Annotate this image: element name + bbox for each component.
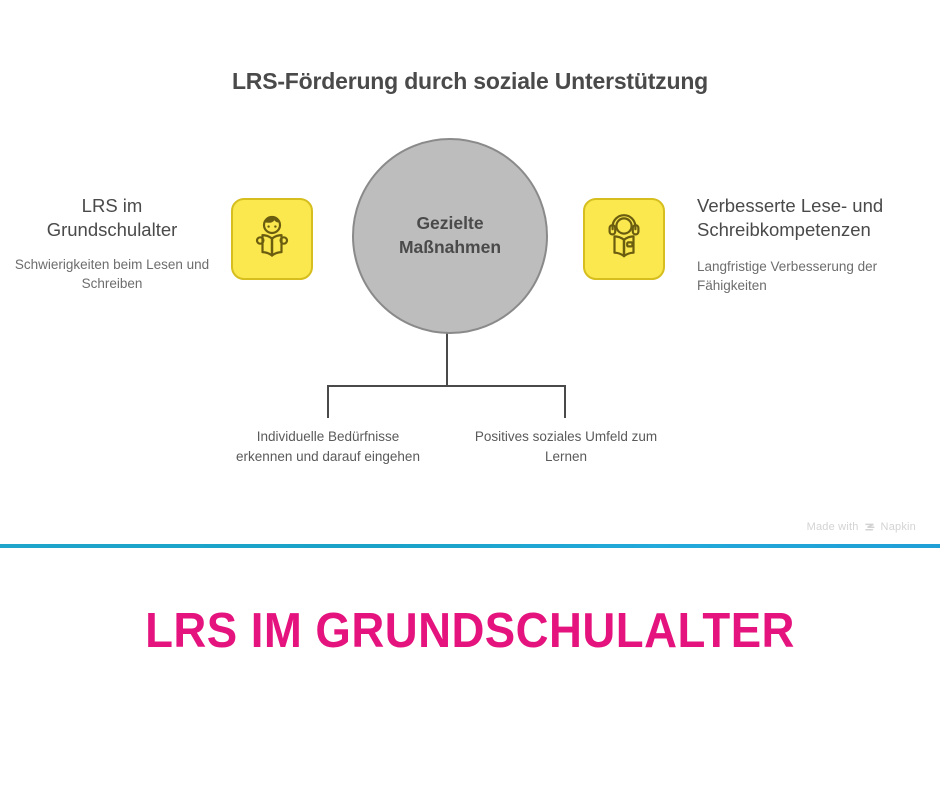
- caption-title: LRS IM GRUNDSCHULALTER: [33, 603, 907, 659]
- connector-horizontal-bar: [327, 385, 566, 387]
- watermark-brand-label: Napkin: [881, 521, 916, 533]
- icon-tile-left[interactable]: [231, 198, 313, 280]
- person-headphones-book-icon: [599, 212, 649, 267]
- center-node-label: Gezielte Maßnahmen: [375, 212, 525, 259]
- connector-stem: [446, 333, 448, 386]
- wing-left-subtext: Schwierigkeiten beim Lesen und Schreiben: [14, 255, 210, 293]
- connector-drop-left: [327, 385, 329, 418]
- watermark-made-with-label: Made with: [807, 521, 859, 533]
- napkin-logo-icon: [864, 521, 876, 533]
- napkin-watermark[interactable]: Made with Napkin: [807, 521, 916, 533]
- connector-drop-right: [564, 385, 566, 418]
- wing-right-text: Verbesserte Lese- und Schreibkompetenzen…: [697, 194, 925, 295]
- icon-tile-right[interactable]: [583, 198, 665, 280]
- center-node[interactable]: Gezielte Maßnahmen: [352, 138, 548, 334]
- caption-band: LRS IM GRUNDSCHULALTER: [0, 548, 940, 788]
- wing-right-subtext: Langfristige Verbesserung der Fähigkeite…: [697, 257, 925, 295]
- wing-left-text: LRS im Grundschulalter Schwierigkeiten b…: [14, 194, 210, 293]
- branch-label: Individuelle Bedürfnisse erkennen und da…: [228, 427, 428, 467]
- person-reading-book-icon: [247, 212, 297, 267]
- branch-label: Positives soziales Umfeld zum Lernen: [466, 427, 666, 467]
- diagram-panel: LRS-Förderung durch soziale Unterstützun…: [0, 0, 940, 545]
- wing-right-heading: Verbesserte Lese- und Schreibkompetenzen: [697, 194, 925, 243]
- diagram-title: LRS-Förderung durch soziale Unterstützun…: [0, 68, 940, 95]
- wing-left-heading: LRS im Grundschulalter: [14, 194, 210, 243]
